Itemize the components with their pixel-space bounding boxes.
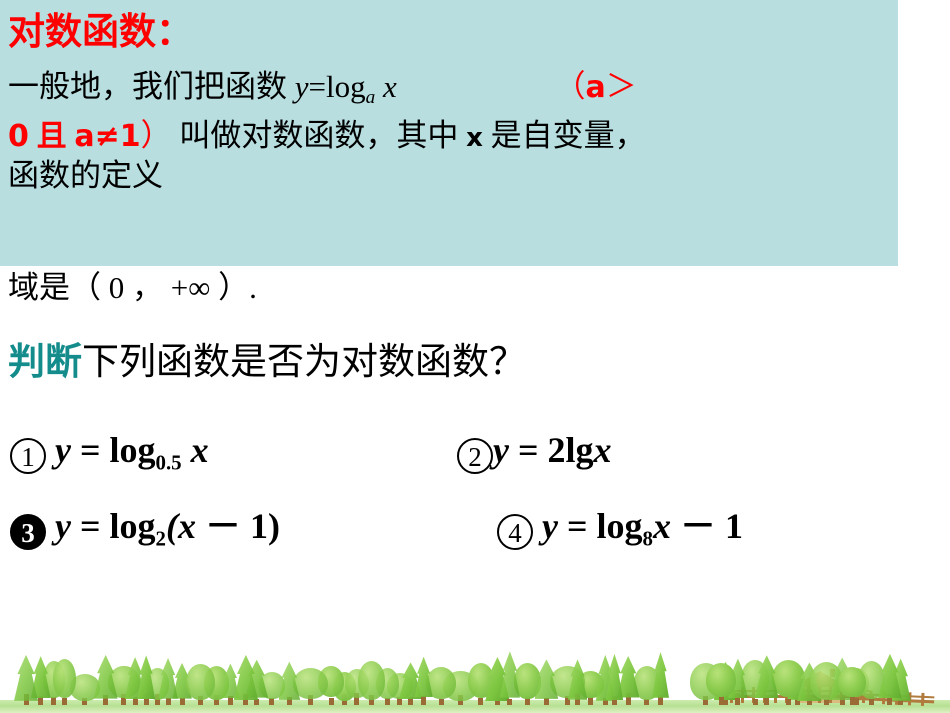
tree-canopy — [706, 663, 736, 697]
domain-line: 域是（ 0 ， +∞ ）. — [8, 268, 257, 308]
equation-1-argument: x — [191, 430, 209, 470]
fence-post — [921, 693, 925, 706]
formula-base: a — [366, 87, 376, 108]
tree-canopy — [568, 659, 588, 699]
condition-a-not-one: a≠1 — [74, 119, 140, 154]
definition-line-2-tail: 是自变量， — [491, 118, 646, 153]
formula-arg: x — [383, 69, 397, 104]
tree-canopy — [755, 655, 779, 698]
equation-4-function: log — [597, 506, 643, 546]
conifer-tree-icon — [535, 657, 559, 705]
conifer-tree-icon — [606, 651, 623, 705]
equation-4-equals: = — [567, 506, 588, 546]
tree-canopy — [606, 654, 623, 700]
definition-panel: 对数函数： 一般地，我们把函数 y=loga x （a＞ 0 且 a≠1） 叫做… — [0, 0, 898, 266]
equation-item-1[interactable]: 1 y = log0.5 x — [10, 420, 209, 492]
tree-canopy — [878, 654, 902, 699]
equation-3-tail: － 1) — [205, 506, 280, 546]
equation-1-function: log — [110, 430, 156, 470]
condition-zero: 0 — [8, 119, 29, 154]
equation-marker-3: 3 — [10, 514, 46, 550]
definition-variable-x: x — [466, 123, 483, 153]
tree-canopy — [94, 655, 118, 699]
equation-1-equals: = — [80, 430, 101, 470]
tree-canopy — [158, 658, 178, 699]
round-tree-icon — [706, 661, 736, 705]
round-tree-icon — [186, 661, 215, 705]
tree-trunk — [439, 699, 444, 705]
equation-2-lhs: y — [493, 430, 509, 470]
scenery-band — [0, 641, 950, 713]
definition-line-3: 函数的定义 — [8, 157, 898, 195]
tree-canopy — [500, 651, 520, 697]
tree-canopy — [137, 655, 155, 699]
equation-3-equals: = — [80, 506, 101, 546]
definition-line-1: 一般地，我们把函数 y=loga x （a＞ — [8, 68, 898, 117]
tree-trunk — [180, 698, 185, 705]
equation-item-4[interactable]: 4 y = log8x － 1 — [497, 496, 743, 568]
conifer-tree-icon — [94, 653, 118, 705]
tree-trunk — [329, 698, 334, 705]
conifer-tree-icon — [158, 656, 178, 705]
equation-item-3[interactable]: 3 y = log2(x － 1) — [10, 496, 280, 568]
tree-canopy — [234, 655, 259, 701]
conifer-tree-icon — [568, 657, 588, 705]
conifer-tree-icon — [14, 651, 38, 705]
tree-canopy — [279, 662, 301, 700]
condition-and: 且 — [37, 119, 67, 154]
conifer-tree-icon — [755, 654, 779, 705]
definition-line-2-mid: 叫做对数函数，其中 — [179, 118, 458, 153]
equation-3-base: 2 — [156, 526, 166, 550]
tree-canopy — [186, 664, 215, 700]
judge-prompt: 判断下列函数是否为对数函数？ — [8, 338, 526, 387]
equation-row-2: 3 y = log2(x － 1) 4 y = log8x － 1 — [10, 496, 940, 572]
formula-y: y — [295, 69, 309, 104]
tree-trunk — [166, 698, 171, 705]
tree-canopy — [14, 655, 38, 701]
condition-a: a — [586, 70, 606, 105]
panel-heading: 对数函数： — [8, 10, 898, 54]
equation-2-equals: = — [518, 430, 539, 470]
tree-trunk — [887, 698, 892, 705]
definition-line-1-prefix: 一般地，我们把函数 — [8, 69, 287, 104]
equation-1-lhs: y — [55, 430, 71, 470]
equation-1-base: 0.5 — [156, 450, 182, 474]
conifer-tree-icon — [652, 651, 669, 705]
equation-3-argument: (x — [166, 506, 196, 546]
formula-log: log — [326, 69, 366, 104]
equation-marker-2: 2 — [457, 438, 493, 474]
equation-4-lhs: y — [542, 506, 558, 546]
tree-canopy — [838, 667, 866, 697]
equation-marker-4: 4 — [497, 514, 533, 550]
equation-list: 1 y = log0.5 x 2y = 2lgx 3 y = log2(x － … — [10, 420, 940, 572]
equation-3-function: log — [110, 506, 156, 546]
round-tree-icon — [838, 665, 866, 705]
equation-4-tail: － 1 — [680, 506, 743, 546]
equation-3-lhs: y — [55, 506, 71, 546]
equation-item-2[interactable]: 2y = 2lgx — [457, 420, 612, 480]
conifer-tree-icon — [500, 651, 520, 705]
tree-trunk — [62, 698, 67, 705]
equation-marker-1: 1 — [10, 438, 46, 474]
tree-canopy — [652, 652, 669, 698]
tree-trunk — [478, 698, 483, 705]
conifer-tree-icon — [878, 652, 902, 705]
equation-2-function: 2lg — [548, 430, 594, 470]
equation-row-1: 1 y = log0.5 x 2y = 2lgx — [10, 420, 940, 496]
tree-canopy — [53, 659, 76, 698]
conifer-tree-icon — [279, 659, 301, 705]
conifer-tree-icon — [137, 653, 155, 705]
round-tree-icon — [358, 659, 385, 705]
condition-open-paren: （ — [555, 69, 586, 104]
equation-2-argument: x — [594, 430, 612, 470]
tree-canopy — [358, 661, 385, 699]
tree-canopy — [535, 659, 559, 699]
conifer-tree-icon — [234, 651, 259, 705]
condition-close-paren: ） — [141, 118, 172, 153]
tree-trunk — [786, 699, 791, 705]
formula-equals: = — [309, 69, 326, 104]
definition-line-2: 0 且 a≠1） 叫做对数函数，其中 x 是自变量， — [8, 117, 898, 157]
round-tree-icon — [53, 658, 76, 705]
tree-trunk — [507, 699, 512, 705]
condition-greater-than: ＞ — [606, 69, 637, 104]
tree-canopy — [414, 657, 432, 698]
judge-prompt-highlight: 判断 — [8, 340, 82, 383]
tree-trunk — [421, 696, 426, 705]
equation-4-argument: x — [653, 506, 671, 546]
judge-prompt-rest: 下列函数是否为对数函数？ — [82, 342, 526, 383]
conifer-tree-icon — [414, 656, 432, 705]
equation-4-base: 8 — [643, 526, 653, 550]
